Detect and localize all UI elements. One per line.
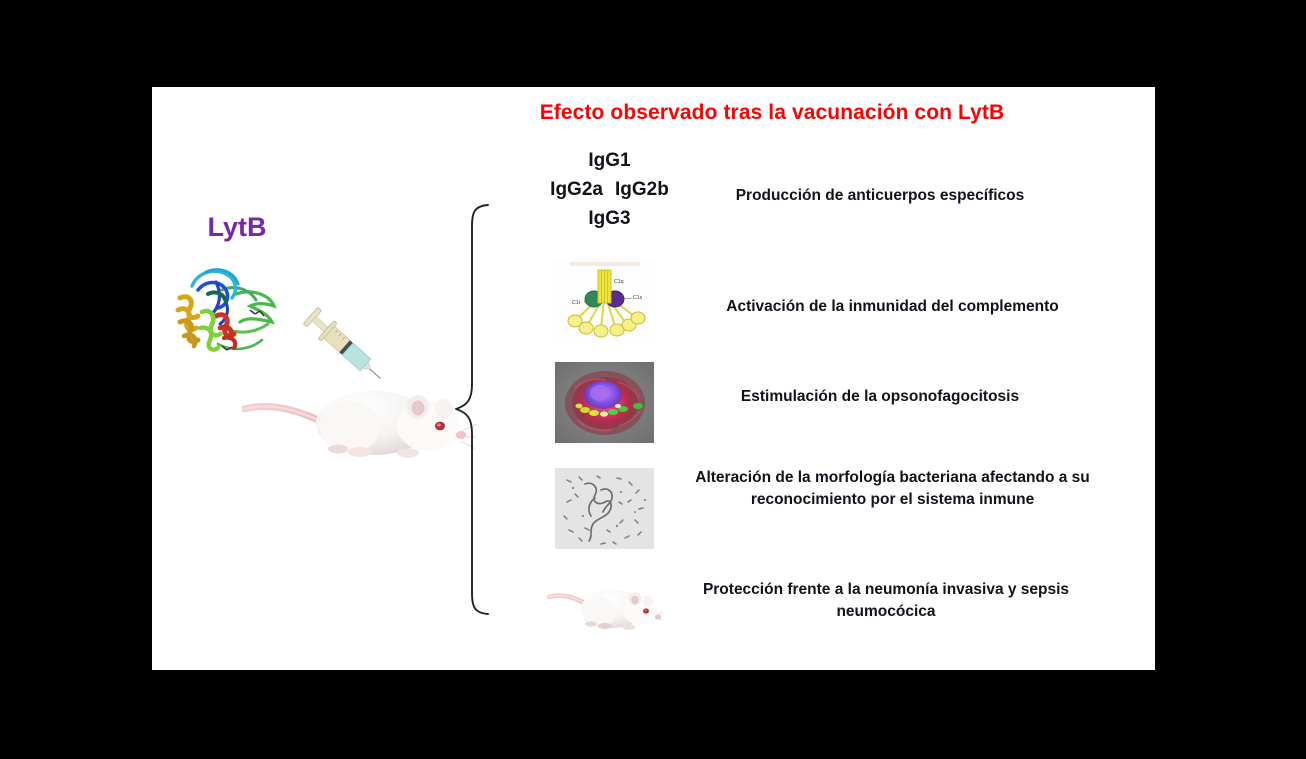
bacterial-morphology-figure	[555, 468, 654, 549]
protein-structure-figure	[162, 260, 282, 370]
protection-mouse-figure	[547, 567, 662, 639]
mouse-figure-top	[242, 357, 477, 462]
effect-text-protection: Protección frente a la neumonía invasiva…	[680, 579, 1092, 623]
isotype-igg1: IgG1	[588, 150, 630, 171]
effect-text-morphology: Alteración de la morfología bacteriana a…	[680, 467, 1105, 511]
effect-text-antibodies: Producción de anticuerpos específicos	[680, 185, 1080, 207]
opsonophagocytosis-figure	[555, 362, 654, 443]
label-c1q: C1q	[614, 279, 624, 285]
page-title: Efecto observado tras la vacunación con …	[452, 101, 1092, 125]
isotype-igg3: IgG3	[588, 208, 630, 229]
grouping-brace	[452, 202, 492, 617]
label-c1r: C1r	[572, 300, 581, 306]
curly-brace-icon	[452, 202, 492, 617]
laboratory-mouse-icon	[242, 357, 477, 462]
label-c1s: C1s	[633, 295, 643, 301]
phase-contrast-micrograph-icon	[555, 468, 654, 549]
protein-ribbon-icon	[162, 260, 282, 370]
igg-row-3: IgG3	[507, 205, 712, 234]
effect-text-opsonophagocytosis: Estimulación de la opsonofagocitosis	[680, 386, 1080, 408]
c1-complement-complex-icon: C1q C1r C1s	[552, 258, 657, 345]
isotype-igg2b: IgG2b	[615, 179, 669, 200]
slide-root: Efecto observado tras la vacunación con …	[0, 0, 1306, 759]
isotype-igg2a: IgG2a	[550, 179, 603, 200]
content-panel: Efecto observado tras la vacunación con …	[152, 87, 1155, 670]
fluorescence-micrograph-icon	[555, 362, 654, 443]
igg-row-1: IgG1	[507, 147, 712, 176]
complement-complex-figure: C1q C1r C1s	[552, 258, 657, 345]
laboratory-mouse-icon	[547, 567, 662, 639]
antigen-label: LytB	[172, 212, 302, 243]
effect-text-complement: Activación de la inmunidad del complemen…	[680, 296, 1105, 318]
